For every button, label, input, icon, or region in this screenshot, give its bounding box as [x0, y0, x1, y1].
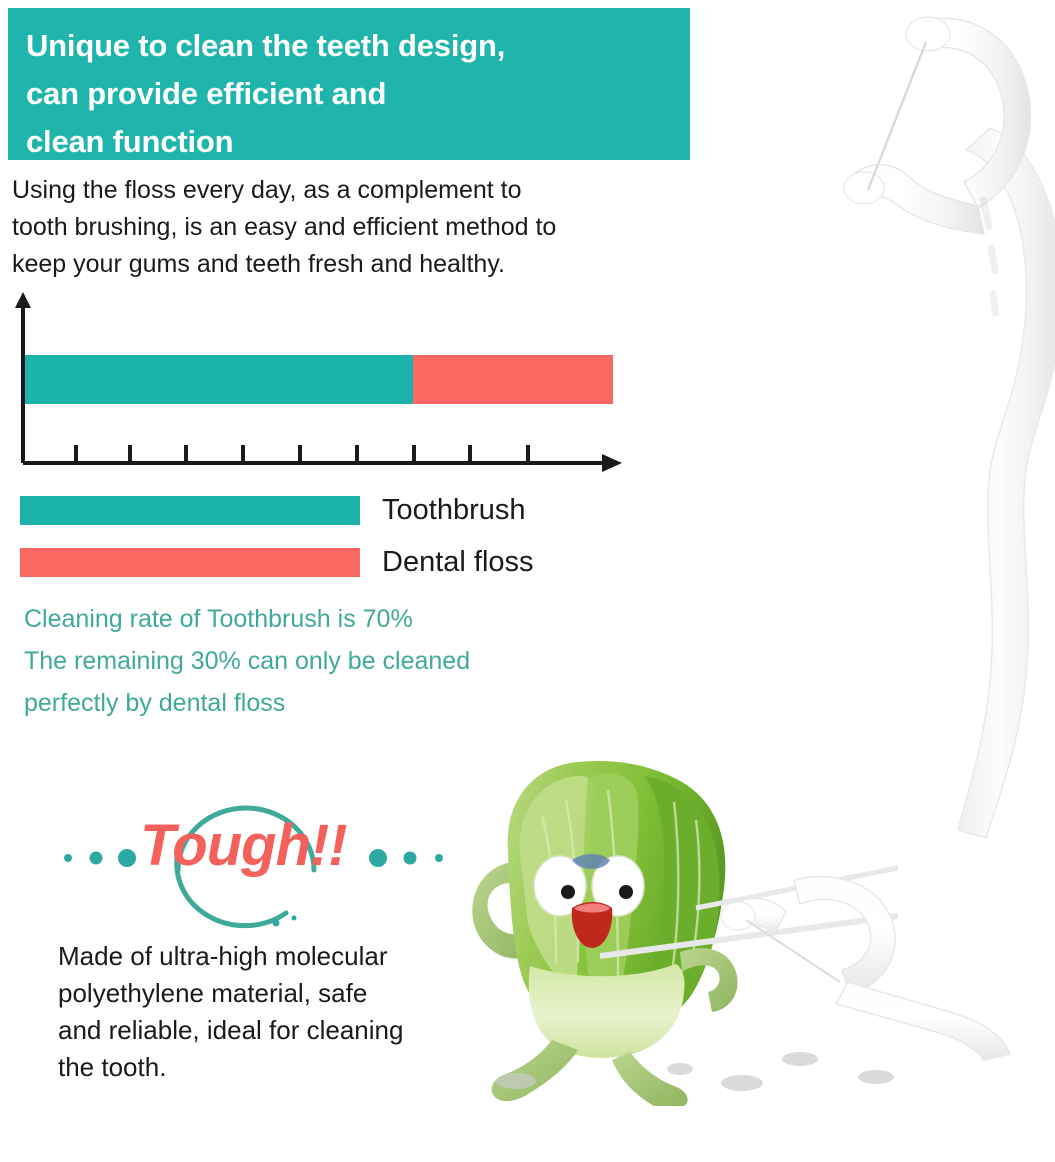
cleaning-rate-chart: 70% 30%	[0, 290, 660, 490]
bar-segment-dental-floss	[413, 355, 613, 404]
bar-segment-toothbrush	[25, 355, 413, 404]
legend-swatch-toothbrush	[20, 496, 360, 525]
floss-pick-top-tip-cap	[906, 17, 950, 51]
material-line-2: polyethylene material, safe	[58, 975, 478, 1012]
dot-left-3-icon	[118, 849, 136, 867]
dot-under-2-icon	[292, 916, 297, 921]
chart-caption: Cleaning rate of Toothbrush is 70% The r…	[24, 598, 664, 724]
shadow-ellipse-5	[858, 1070, 894, 1084]
ground-shadow-group	[480, 1045, 920, 1105]
caption-line-1: Cleaning rate of Toothbrush is 70%	[24, 598, 664, 640]
header-banner: Unique to clean the teeth design, can pr…	[8, 8, 690, 160]
chart-canvas	[0, 290, 660, 490]
handle-embossed-branding	[979, 196, 999, 317]
legend-swatch-dental-floss	[20, 548, 360, 577]
chart-legend: Toothbrush Dental floss	[20, 484, 640, 588]
shadow-ellipse-2	[667, 1063, 693, 1075]
floss-pick-illustration-bottom	[690, 862, 1020, 1062]
intro-line-2: tooth brushing, is an easy and efficient…	[12, 209, 692, 246]
header-line-2: can provide efficient and	[26, 70, 672, 118]
y-axis-arrow-icon	[15, 292, 31, 308]
floss-thread-bottom	[746, 920, 840, 982]
header-line-3: clean function	[26, 118, 672, 166]
dot-left-1-icon	[64, 854, 72, 862]
shadow-ellipse-1	[496, 1073, 536, 1089]
intro-paragraph: Using the floss every day, as a compleme…	[12, 172, 692, 283]
floss-pick-bottom-tip-cap	[844, 172, 884, 204]
dot-right-1-icon	[369, 849, 387, 867]
header-line-1: Unique to clean the teeth design,	[26, 22, 672, 70]
material-line-3: and reliable, ideal for cleaning	[58, 1012, 478, 1049]
material-line-4: the tooth.	[58, 1049, 478, 1086]
dot-right-3-icon	[435, 854, 443, 862]
x-axis-arrow-icon	[602, 454, 622, 472]
floss-pick-bottom-arc	[794, 877, 895, 994]
shadow-ellipse-4	[782, 1052, 818, 1066]
mascot-left-pupil	[561, 885, 575, 899]
material-line-1: Made of ultra-high molecular	[58, 938, 478, 975]
floss-pick-product-photo-top	[838, 0, 1055, 860]
legend-label-dental-floss: Dental floss	[382, 546, 534, 579]
floss-pick-handle-shaft	[958, 128, 1055, 838]
tough-label: Tough!!	[140, 812, 347, 879]
shadow-ellipse-3	[721, 1075, 763, 1091]
floss-pick-illustration-top	[838, 0, 1055, 860]
shadow-ellipses	[480, 1045, 920, 1105]
floss-pick-product-photo-bottom	[690, 862, 1020, 1062]
legend-label-toothbrush: Toothbrush	[382, 494, 526, 527]
intro-line-3: keep your gums and teeth fresh and healt…	[12, 246, 692, 283]
x-axis-ticks	[76, 445, 528, 463]
material-paragraph: Made of ultra-high molecular polyethylen…	[58, 938, 478, 1086]
dot-right-2-icon	[404, 852, 417, 865]
intro-line-1: Using the floss every day, as a compleme…	[12, 172, 692, 209]
caption-line-3: perfectly by dental floss	[24, 682, 664, 724]
caption-line-2: The remaining 30% can only be cleaned	[24, 640, 664, 682]
dot-left-2-icon	[90, 852, 103, 865]
product-infographic: Unique to clean the teeth design, can pr…	[0, 0, 1055, 1162]
floss-pick-bottom-tip	[721, 902, 755, 930]
legend-row-dental-floss: Dental floss	[20, 536, 640, 588]
legend-row-toothbrush: Toothbrush	[20, 484, 640, 536]
dot-under-1-icon	[273, 920, 280, 927]
